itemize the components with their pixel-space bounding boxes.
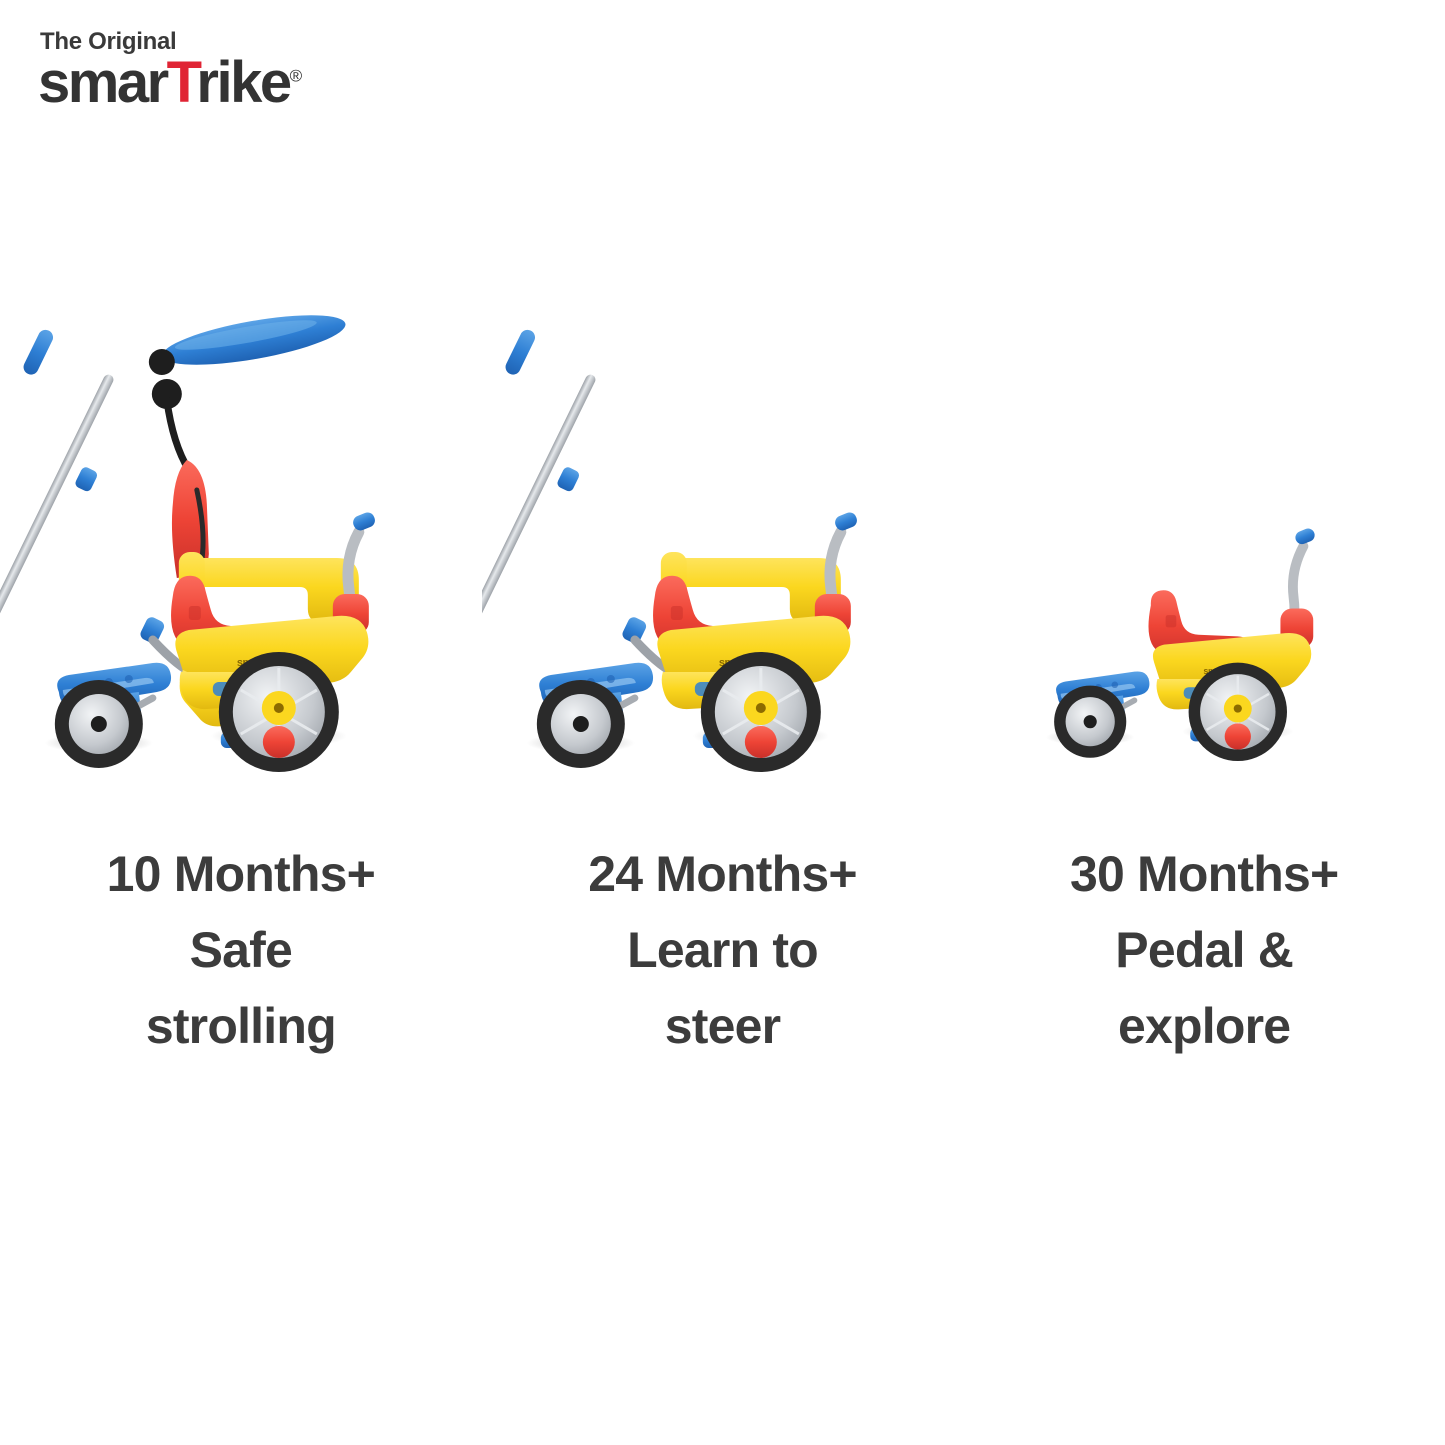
stage-panel-2: smarTrike — [482, 300, 964, 1100]
feature-line-1a: Safe — [0, 912, 482, 988]
front-wheel — [701, 652, 821, 772]
product-stages-row: smarTrike — [0, 300, 1445, 1100]
brand-name-part1: smar — [38, 50, 167, 115]
product-image-stage-1: smarTrike — [0, 300, 482, 800]
age-label-1: 10 Months+ — [0, 836, 482, 912]
stage-panel-3: smarTrike — [963, 300, 1445, 1100]
pedal-crank-knob — [263, 726, 295, 758]
rear-wheel — [1054, 686, 1126, 758]
handlebar — [1281, 527, 1317, 648]
brand-name-accent-t: T — [167, 50, 197, 115]
stage-caption-3: 30 Months+ Pedal & explore — [963, 836, 1445, 1064]
product-image-stage-3: smarTrike — [963, 300, 1445, 800]
trike-illustration-1: smarTrike — [0, 300, 482, 800]
front-wheel — [1189, 663, 1287, 761]
product-image-stage-2: smarTrike — [482, 300, 964, 800]
brand-logo: The Original smarTrike® — [38, 30, 368, 111]
pedal-crank-knob — [745, 726, 777, 758]
trike-illustration-3: smarTrike — [963, 300, 1445, 800]
rear-wheel — [537, 680, 625, 768]
feature-line-2b: steer — [482, 988, 964, 1064]
front-wheel — [219, 652, 339, 772]
stage-caption-1: 10 Months+ Safe strolling — [0, 836, 482, 1064]
canopy-pivot-joint — [149, 349, 175, 375]
age-label-3: 30 Months+ — [963, 836, 1445, 912]
parent-push-handle — [482, 327, 677, 674]
stage-panel-1: smarTrike — [0, 300, 482, 1100]
trike-illustration-2: smarTrike — [482, 300, 964, 800]
age-label-2: 24 Months+ — [482, 836, 964, 912]
sun-canopy — [149, 305, 349, 470]
feature-line-2a: Learn to — [482, 912, 964, 988]
pedal-crank-knob — [1225, 723, 1251, 749]
brand-name-part2: rike — [196, 50, 289, 115]
feature-line-1b: strolling — [0, 988, 482, 1064]
rear-wheel — [55, 680, 143, 768]
registered-trademark-icon: ® — [290, 67, 303, 86]
feature-line-3a: Pedal & — [963, 912, 1445, 988]
feature-line-3b: explore — [963, 988, 1445, 1064]
stage-caption-2: 24 Months+ Learn to steer — [482, 836, 964, 1064]
brand-wordmark: smarTrike® — [38, 55, 368, 111]
